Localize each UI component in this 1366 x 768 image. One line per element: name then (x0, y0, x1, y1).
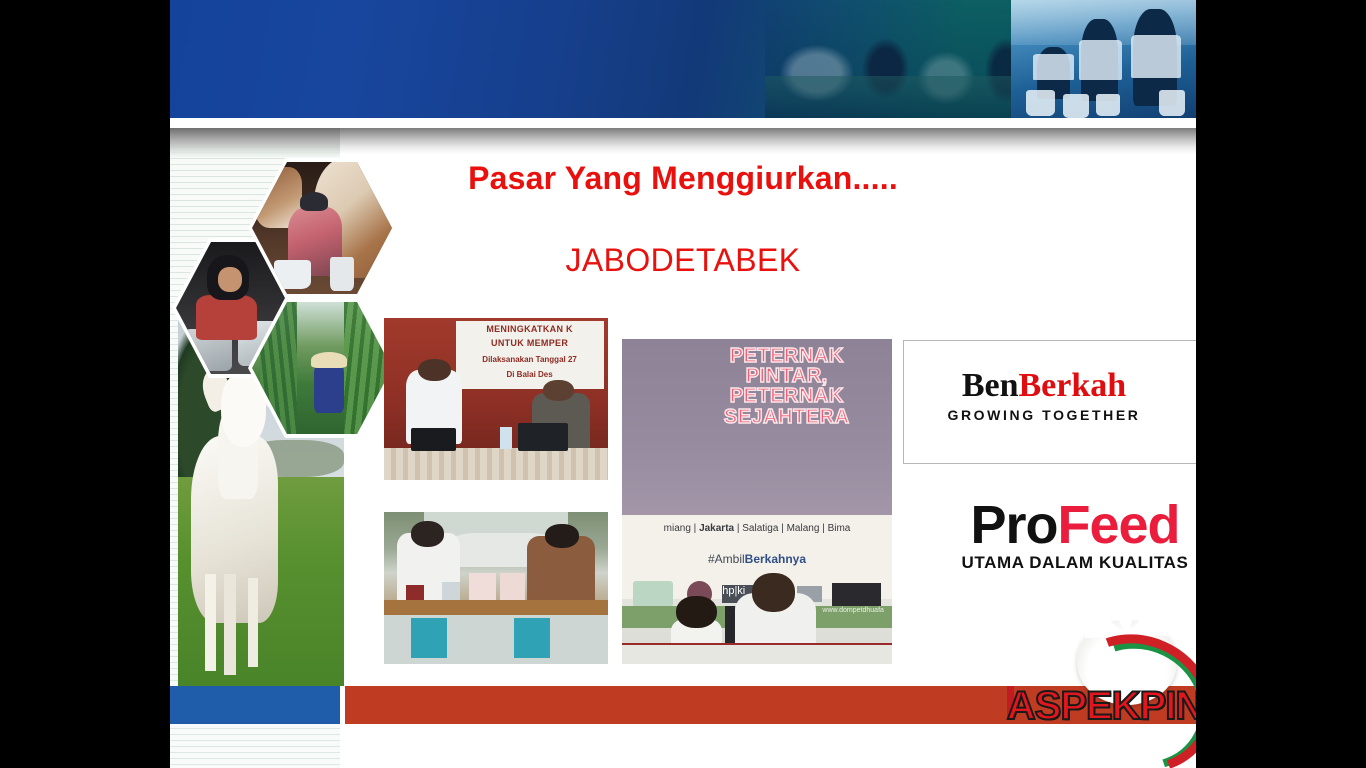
hex3-farmer (314, 360, 345, 413)
discussion-stool-2 (514, 618, 550, 658)
city-malang: Malang (787, 523, 820, 534)
sponsor-logo-5 (832, 583, 882, 606)
hex3-conical-hat (311, 352, 347, 368)
peternak-hashtag: #AmbilBerkahnya (622, 552, 892, 566)
banner-worker-3-shirt (1131, 35, 1181, 77)
seminar-water-bottle (500, 427, 511, 450)
seminar-attendee-head (543, 380, 574, 401)
aspekpin-logo: ASPEKPIN (1005, 618, 1196, 768)
banner-milk-can-4 (1159, 90, 1185, 116)
peternak-tablecloth (622, 643, 892, 665)
hex3-corn-right (344, 302, 386, 434)
peternak-url-text: www.dompetdhuafa (822, 607, 883, 614)
seminar-banner-line-3: Dilaksanakan Tanggal 27 (456, 355, 604, 364)
seminar-laptop-2 (411, 428, 456, 451)
slide-stage: Pasar Yang Menggiurkan..... JABODETABEK … (0, 0, 1366, 768)
seminar-speaker-head (418, 359, 452, 382)
aspekpin-wordmark: ASPEKPIN (1005, 684, 1196, 729)
benberkah-logo: BenBerkah GROWING TOGETHER (903, 340, 1196, 464)
profeed-text: ProFeed (925, 500, 1196, 552)
profeed-logo: ProFeed UTAMA DALAM KUALITAS (925, 500, 1196, 573)
hex2-woman-body (196, 295, 258, 340)
seminar-photo: MENINGKATKAN K UNTUK MEMPER Dilaksanakan… (384, 318, 608, 480)
banner-worker-1-shirt (1033, 54, 1074, 80)
banner-workers-photo (1011, 0, 1196, 118)
profeed-tagline: UTAMA DALAM KUALITAS (925, 553, 1196, 573)
goat-leg-1 (205, 574, 217, 671)
banner-separator (170, 118, 1196, 128)
benberkah-word-red: Berkah (1019, 367, 1127, 404)
discussion-photo (384, 512, 608, 664)
peternak-headline-line-3: PETERNAK (687, 386, 887, 406)
peternak-photo: PETERNAK PINTAR, PETERNAK SEJAHTERA mian… (622, 339, 892, 664)
peternak-city-list: miang | Jakarta | Salatiga | Malang | Bi… (622, 523, 892, 534)
benberkah-text: BenBerkah (904, 369, 1184, 403)
sponsor-logo-1 (633, 581, 673, 607)
benberkah-tagline: GROWING TOGETHER (904, 407, 1184, 423)
seminar-table (384, 448, 608, 480)
seminar-banner-line-4: Di Balai Des (456, 370, 604, 379)
benberkah-word-dark: Ben (962, 367, 1019, 404)
discussion-table-top (384, 600, 608, 615)
peternak-headline-line-2: PINTAR, (687, 366, 887, 386)
discussion-jar-2 (500, 573, 525, 602)
banner-milk-can-1 (1026, 90, 1056, 116)
presentation-slide: Pasar Yang Menggiurkan..... JABODETABEK … (170, 0, 1196, 768)
left-column-shadow (170, 128, 340, 158)
discussion-man-right-head (545, 524, 579, 548)
seminar-banner-line-1: MENINGKATKAN K (456, 324, 604, 334)
seminar-banner-line-2: UNTUK MEMPER (456, 338, 604, 348)
profeed-word-dark: Pro (970, 495, 1057, 555)
city-miang: miang (664, 523, 691, 534)
peternak-headline: PETERNAK PINTAR, PETERNAK SEJAHTERA (687, 346, 887, 428)
discussion-stool-1 (411, 618, 447, 658)
discussion-glass-tea (406, 585, 424, 602)
peternak-headline-line-1: PETERNAK (687, 346, 887, 366)
discussion-glass-water (442, 582, 460, 602)
banner-milk-can-2 (1063, 94, 1089, 118)
footer-blue-block (170, 686, 340, 724)
page-subtitle: JABODETABEK (170, 242, 1196, 279)
banner-worker-2-shirt (1079, 40, 1122, 80)
seminar-banner: MENINGKATKAN K UNTUK MEMPER Dilaksanakan… (456, 321, 604, 389)
seminar-laptop-1 (518, 423, 567, 451)
discussion-man-left-head (411, 521, 445, 547)
peternak-speaker-head (752, 573, 795, 612)
page-title: Pasar Yang Menggiurkan..... (170, 160, 1196, 197)
discussion-jar-1 (469, 573, 496, 602)
goat-leg-3 (248, 578, 258, 668)
peternak-headline-line-4: SEJAHTERA (687, 407, 887, 427)
header-banner (170, 0, 1196, 118)
profeed-word-red: Feed (1057, 495, 1179, 555)
hashtag-prefix: #Ambil (708, 552, 745, 566)
peternak-child-head (676, 596, 717, 629)
hashtag-suffix: Berkahnya (745, 552, 806, 566)
city-salatiga: Salatiga (742, 523, 778, 534)
banner-milk-can-3 (1096, 94, 1120, 115)
city-bima: Bima (828, 523, 851, 534)
goat-leg-2 (224, 574, 236, 675)
benberkah-wordmark: BenBerkah GROWING TOGETHER (904, 369, 1184, 423)
city-jakarta: Jakarta (699, 523, 734, 534)
